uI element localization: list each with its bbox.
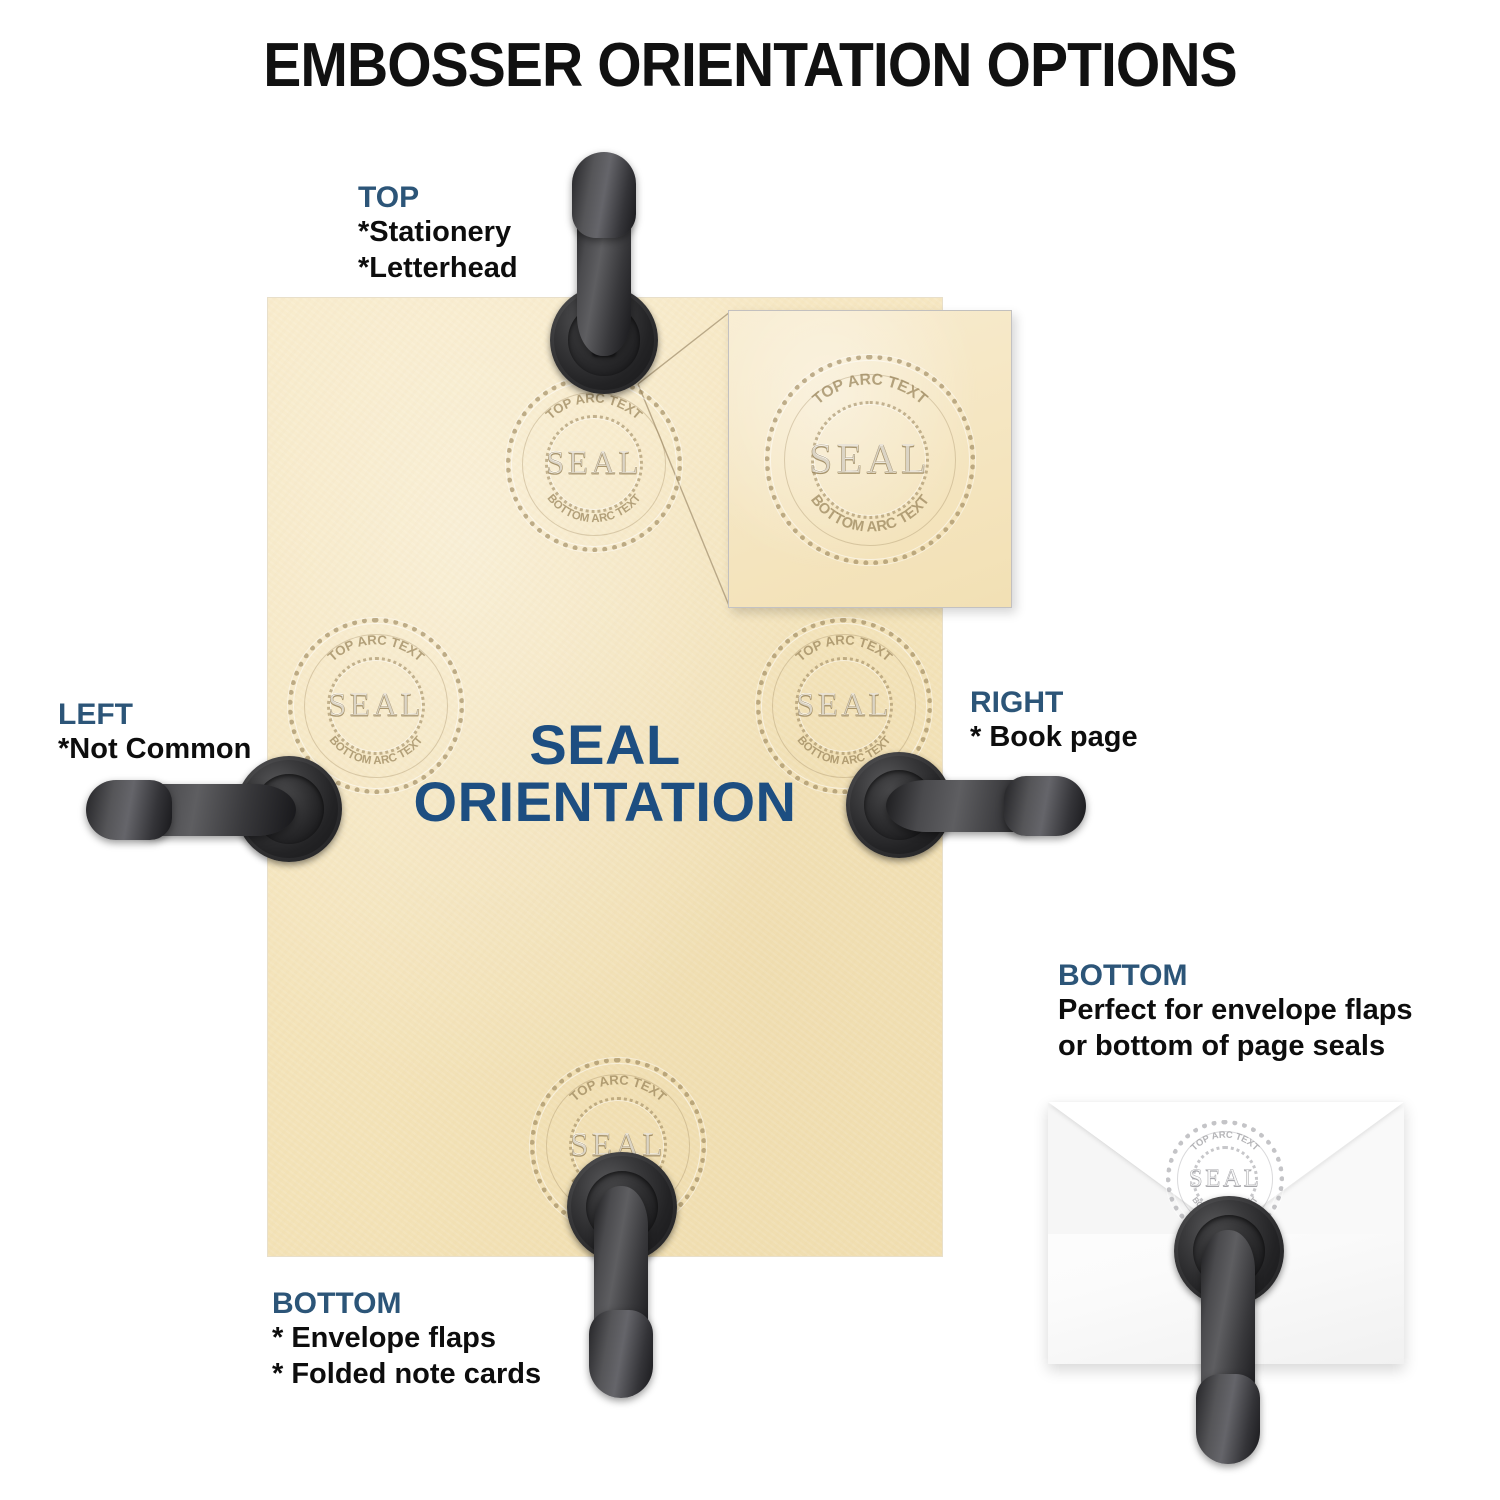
page-title: EMBOSSER ORIENTATION OPTIONS — [60, 30, 1440, 101]
svg-text:TOP ARC TEXT: TOP ARC TEXT — [810, 371, 931, 408]
callout-top: TOP *Stationery *Letterhead — [358, 180, 518, 286]
callout-bottom-paper: BOTTOM * Envelope flaps * Folded note ca… — [272, 1286, 541, 1392]
seal-inner-ring — [811, 401, 929, 519]
seal-bottom-arc-text: BOTTOM ARC TEXT — [807, 492, 933, 535]
seal-orientation-line1: SEAL — [268, 716, 942, 773]
embosser-tool-bottom — [563, 1150, 679, 1400]
embosser-tool-envelope — [1170, 1196, 1286, 1464]
seal-outer-ring — [765, 355, 975, 565]
callout-top-heading: TOP — [358, 180, 518, 215]
callout-bottom-envelope-line-2: or bottom of page seals — [1058, 1029, 1413, 1064]
embosser-tool-top — [546, 152, 662, 392]
seal-top-arc-text: TOP ARC TEXT — [810, 371, 931, 408]
callout-bottom-paper-line-2: * Folded note cards — [272, 1357, 541, 1392]
seal-orientation-heading: SEAL ORIENTATION — [268, 716, 942, 830]
embosser-handle — [589, 1310, 653, 1398]
callout-top-line-2: *Letterhead — [358, 251, 518, 286]
magnified-seal-panel: TOP ARC TEXT BOTTOM ARC TEXT SEAL — [728, 310, 1012, 608]
seal-impression-magnified: TOP ARC TEXT BOTTOM ARC TEXT SEAL — [765, 355, 975, 565]
embosser-handle — [1196, 1374, 1260, 1464]
callout-bottom-paper-heading: BOTTOM — [272, 1286, 541, 1321]
callout-bottom-paper-line-1: * Envelope flaps — [272, 1321, 541, 1356]
callout-left: LEFT *Not Common — [58, 697, 251, 768]
callout-left-line-1: *Not Common — [58, 732, 251, 767]
callout-bottom-envelope-heading: BOTTOM — [1058, 958, 1413, 993]
embosser-tool-left — [86, 756, 342, 862]
seal-orientation-line2: ORIENTATION — [268, 773, 942, 830]
callout-bottom-envelope-line-1: Perfect for envelope flaps — [1058, 993, 1413, 1028]
callout-right-line-1: * Book page — [970, 720, 1138, 755]
seal-middle-ring — [784, 374, 956, 546]
embosser-handle — [1004, 776, 1086, 836]
callout-right-heading: RIGHT — [970, 685, 1138, 720]
callout-left-heading: LEFT — [58, 697, 251, 732]
embosser-tool-right — [846, 752, 1086, 858]
seal-center-text: SEAL — [765, 436, 975, 484]
callout-right: RIGHT * Book page — [970, 685, 1138, 756]
embosser-handle — [86, 780, 172, 840]
seal-arc-text: TOP ARC TEXT BOTTOM ARC TEXT — [765, 355, 975, 565]
callout-bottom-envelope: BOTTOM Perfect for envelope flaps or bot… — [1058, 958, 1413, 1064]
embosser-handle — [572, 152, 636, 238]
svg-text:BOTTOM ARC TEXT: BOTTOM ARC TEXT — [807, 492, 933, 535]
callout-top-line-1: *Stationery — [358, 215, 518, 250]
